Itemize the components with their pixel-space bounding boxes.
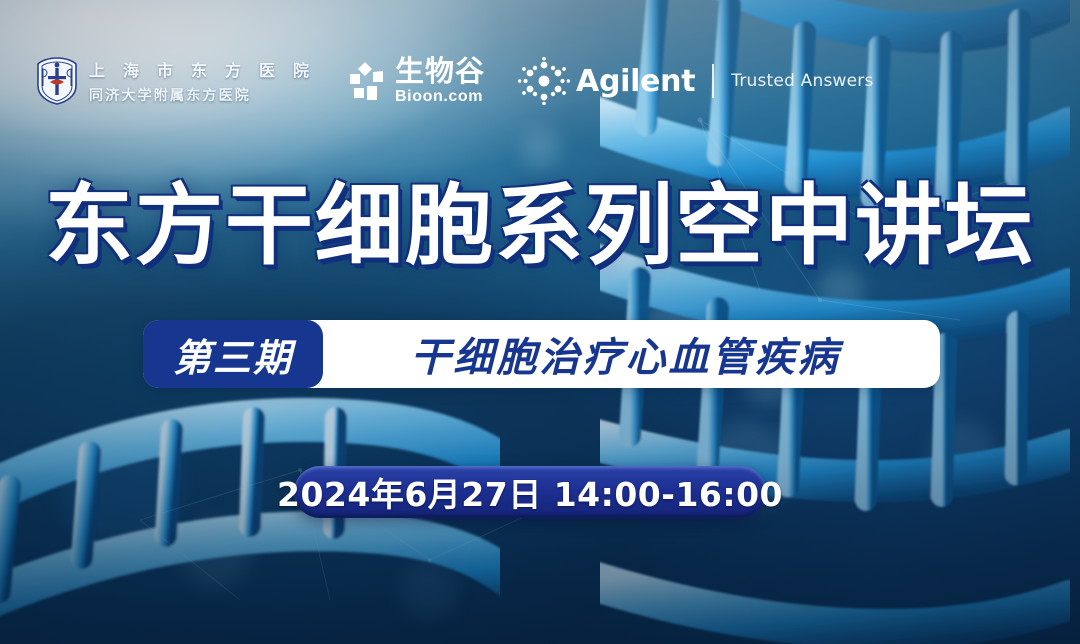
hospital-crest-icon bbox=[34, 56, 80, 106]
hospital-logo: 上 海 市 东 方 医 院 同济大学附属东方医院 bbox=[34, 56, 316, 106]
bioon-name-en: Bioon.com bbox=[395, 88, 483, 106]
agilent-wordmark: Agilent bbox=[576, 64, 695, 99]
hospital-name: 上 海 市 东 方 医 院 同济大学附属东方医院 bbox=[89, 57, 316, 105]
bioon-logo: 生物谷 Bioon.com bbox=[346, 57, 485, 106]
schedule-badge: 2024年6月27日 14:00-16:00 bbox=[294, 466, 766, 518]
poster-banner: 上 海 市 东 方 医 院 同济大学附属东方医院 生物谷 Bio bbox=[0, 0, 1080, 644]
bioon-wordmark: 生物谷 Bioon.com bbox=[395, 57, 485, 106]
hospital-name-line1: 上 海 市 东 方 医 院 bbox=[89, 57, 316, 81]
page-title: 东方干细胞系列空中讲坛 bbox=[0, 182, 1080, 270]
agilent-logo: Agilent Trusted Answers bbox=[518, 57, 874, 105]
episode-badge: 第三期 bbox=[143, 320, 323, 388]
agilent-divider bbox=[712, 64, 714, 98]
bioon-pinwheel-icon bbox=[346, 60, 386, 102]
agilent-tagline: Trusted Answers bbox=[731, 71, 873, 91]
agilent-starburst-icon bbox=[518, 57, 570, 105]
subtitle-pill: 第三期 干细胞治疗心血管疾病 bbox=[143, 320, 940, 388]
logo-strip: 上 海 市 东 方 医 院 同济大学附属东方医院 生物谷 Bio bbox=[0, 47, 1080, 115]
bioon-name-cn: 生物谷 bbox=[395, 57, 485, 87]
subtitle-text: 干细胞治疗心血管疾病 bbox=[323, 325, 940, 383]
schedule-datetime: 2024年6月27日 14:00-16:00 bbox=[277, 468, 783, 516]
hospital-name-line2: 同济大学附属东方医院 bbox=[89, 85, 316, 105]
